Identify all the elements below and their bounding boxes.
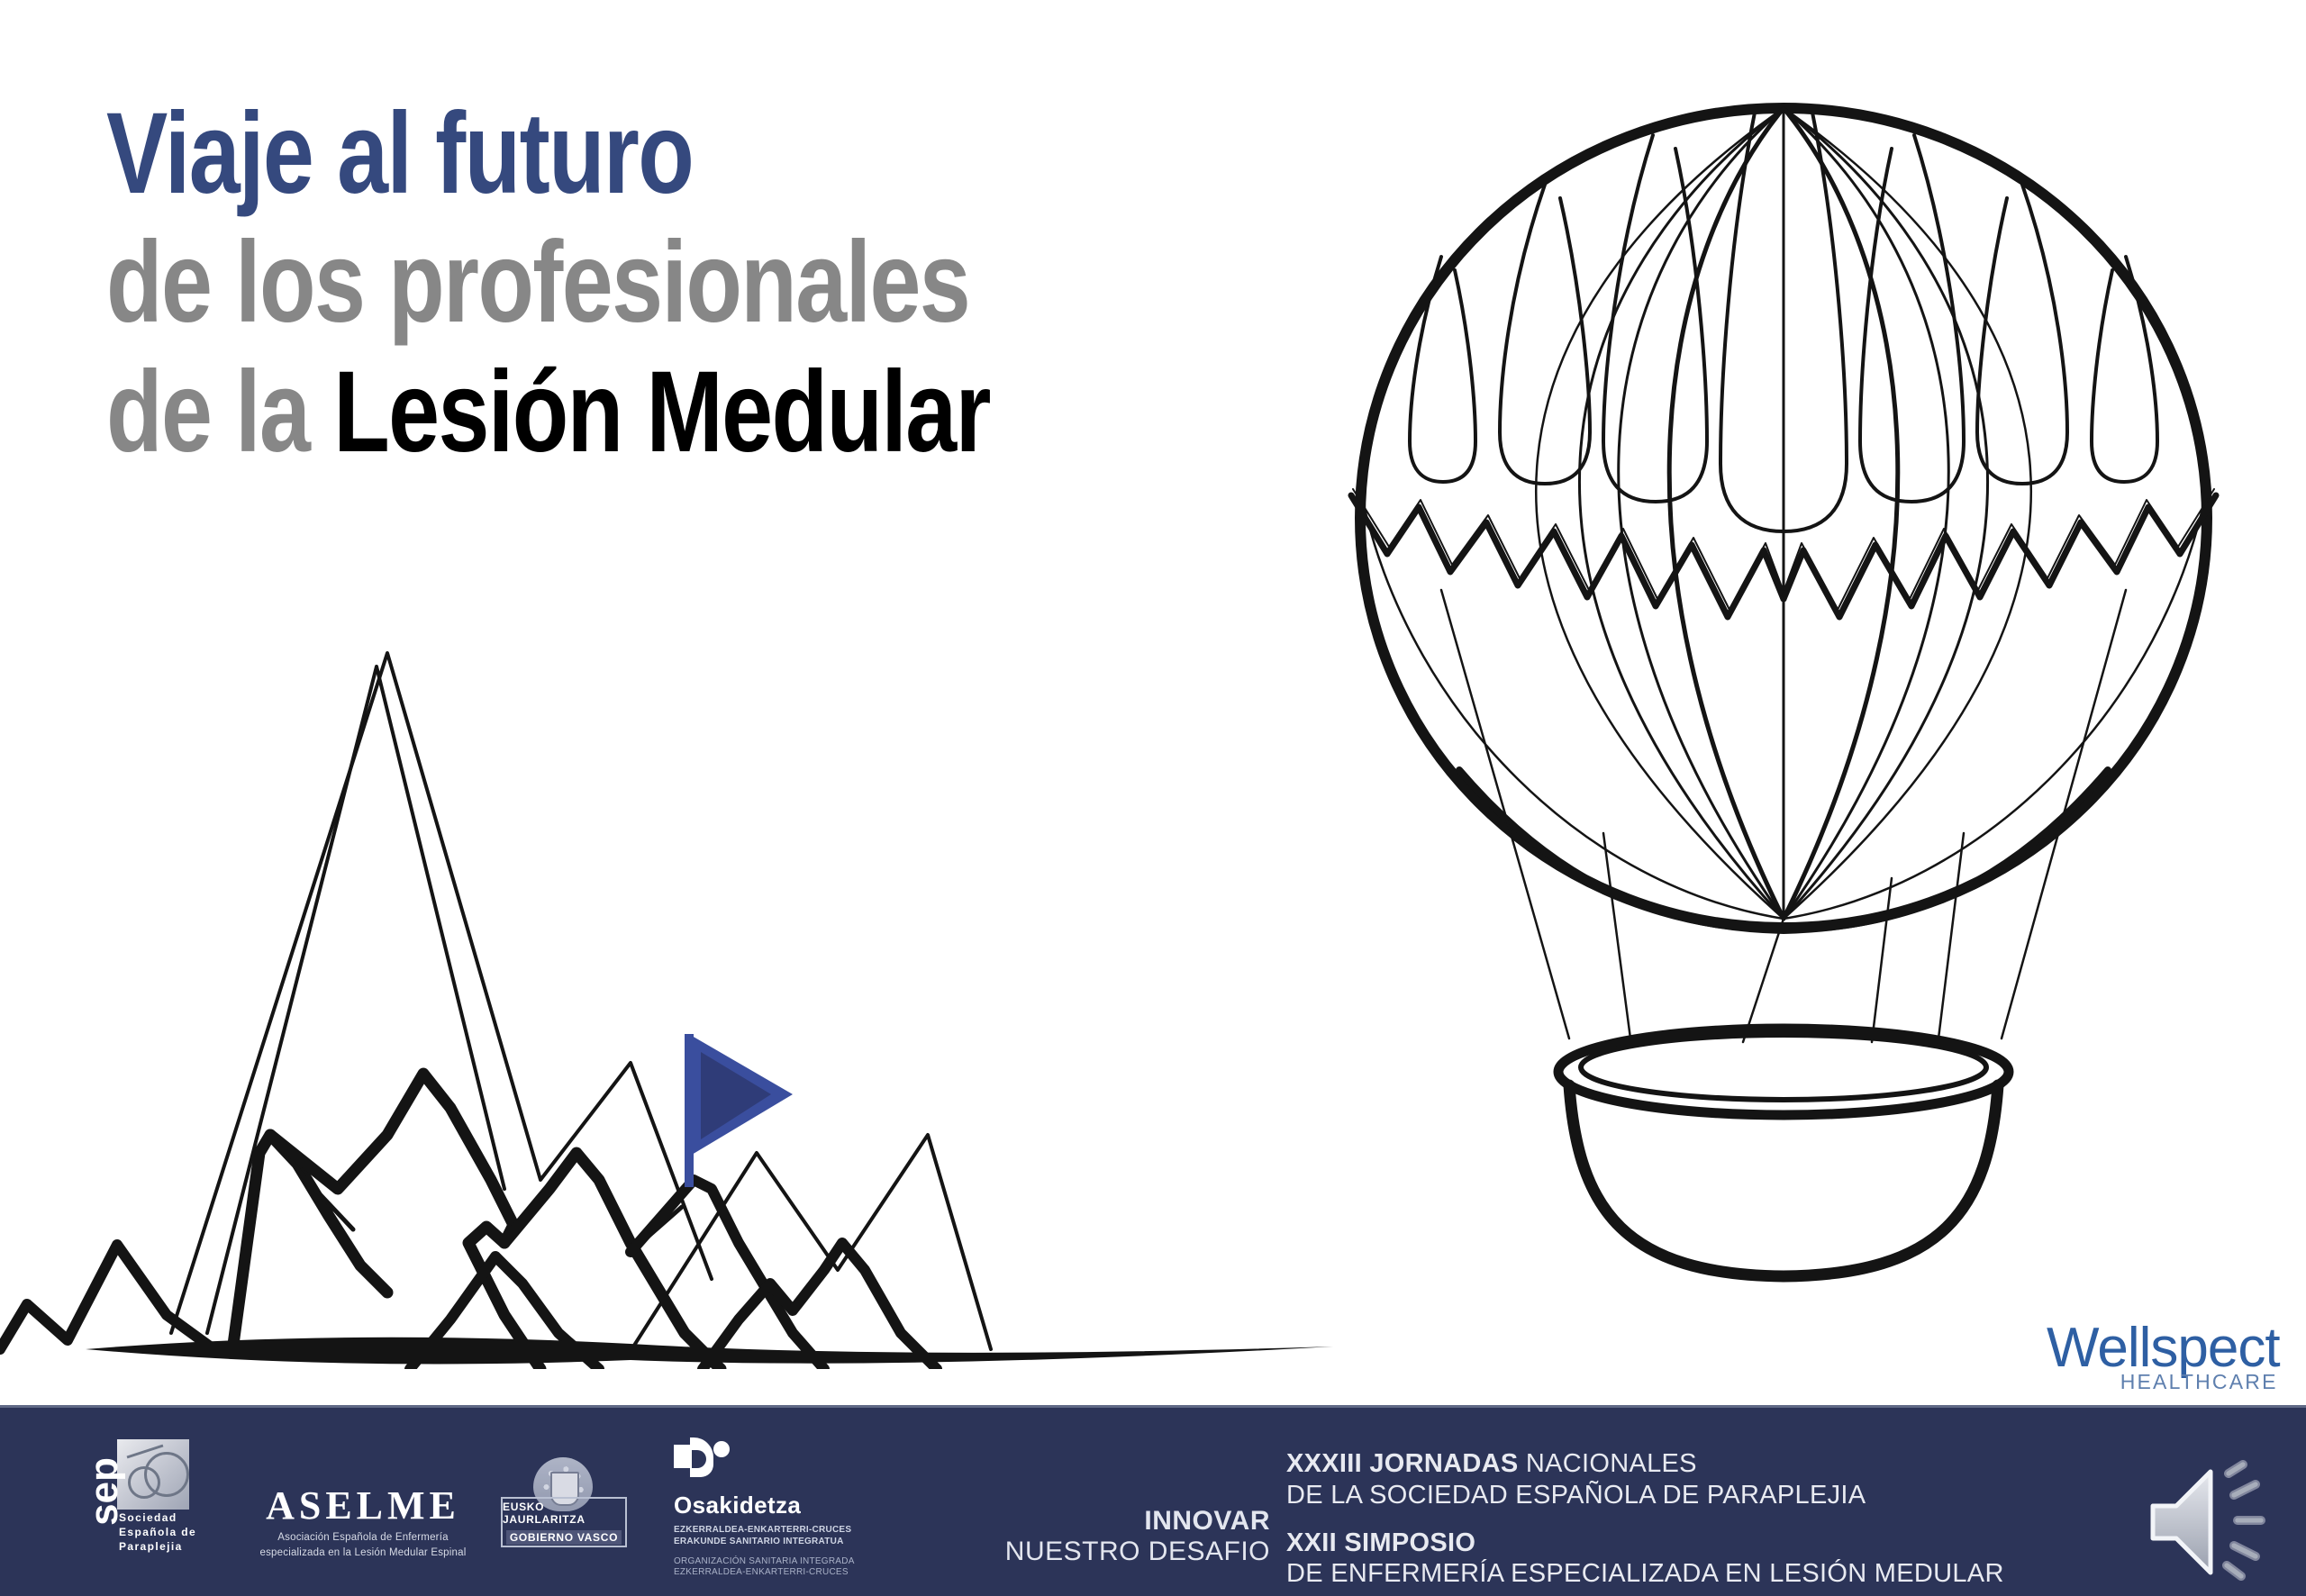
- logo-sep: sep Sociedad Española de Paraplejia: [79, 1439, 189, 1553]
- logo-aselme: ASELME Asociación Española de Enfermería…: [259, 1486, 467, 1562]
- event-block-simposio: XXII SIMPOSIO DE ENFERMERÍA ESPECIALIZAD…: [1286, 1528, 2004, 1591]
- wellspect-wordmark: Wellspect: [2047, 1322, 2280, 1374]
- summit-flag-icon: [685, 1034, 793, 1187]
- wellspect-logo: Wellspect HEALTHCARE: [2047, 1322, 2280, 1394]
- event-2-heading: XXII SIMPOSIO: [1286, 1528, 2004, 1559]
- osakidetza-subtitle-basque: EZKERRALDEA-ENKARTERRI-CRUCES ERAKUNDE S…: [674, 1525, 908, 1548]
- sep-caption: Sociedad Española de Paraplejia: [119, 1511, 196, 1554]
- title-line-1: Viaje al futuro: [106, 97, 990, 210]
- sep-wheelchair-photo: [117, 1439, 189, 1510]
- title-line-3-prefix: de la: [106, 348, 333, 476]
- event-2-subtitle: DE ENFERMERÍA ESPECIALIZADA EN LESIÓN ME…: [1286, 1558, 2004, 1590]
- event-2-number: XXII SIMPOSIO: [1286, 1528, 1475, 1557]
- sep-caption-line-1: Sociedad: [119, 1511, 196, 1526]
- osakidetza-dot-icon: [713, 1441, 730, 1457]
- title-line-3-strong: Lesión Medular: [333, 348, 990, 476]
- event-1-qualifier: NACIONALES: [1519, 1449, 1697, 1478]
- aselme-subtitle-line-2: especializada en la Lesión Medular Espin…: [259, 1546, 467, 1561]
- sep-caption-line-3: Paraplejia: [119, 1540, 196, 1555]
- slogan-line-2: NUESTRO DESAFIO: [1000, 1537, 1270, 1567]
- osakidetza-spanish-line-2: EZKERRALDEA-ENKARTERRI-CRUCES: [674, 1567, 908, 1579]
- page-title: Viaje al futuro de los profesionales de …: [106, 97, 1211, 485]
- event-block-jornadas: XXXIII JORNADAS NACIONALES DE LA SOCIEDA…: [1286, 1448, 2004, 1511]
- event-1-subtitle: DE LA SOCIEDAD ESPAÑOLA DE PARAPLEJIA: [1286, 1480, 2004, 1511]
- osakidetza-basque-line-1: EZKERRALDEA-ENKARTERRI-CRUCES: [674, 1525, 908, 1537]
- aselme-wordmark: ASELME: [259, 1486, 467, 1526]
- logo-eusko-jaurlaritza: EUSKO JAURLARITZA GOBIERNO VASCO: [501, 1457, 627, 1565]
- event-1-number: XXXIII JORNADAS: [1286, 1449, 1519, 1478]
- slide-root: Viaje al futuro de los profesionales de …: [0, 0, 2306, 1596]
- logo-osakidetza: Osakidetza EZKERRALDEA-ENKARTERRI-CRUCES…: [674, 1437, 908, 1579]
- mountain-range-illustration: [0, 558, 1531, 1369]
- eusko-line-2: GOBIERNO VASCO: [506, 1530, 622, 1545]
- osakidetza-basque-line-2: ERAKUNDE SANITARIO INTEGRATUA: [674, 1537, 908, 1548]
- eusko-nameplate: EUSKO JAURLARITZA GOBIERNO VASCO: [501, 1497, 627, 1547]
- banner-slogan: INNOVAR NUESTRO DESAFIO: [1000, 1506, 1270, 1566]
- event-1-heading: XXXIII JORNADAS NACIONALES: [1286, 1448, 2004, 1480]
- event-titles: XXXIII JORNADAS NACIONALES DE LA SOCIEDA…: [1286, 1448, 2004, 1596]
- osakidetza-wordmark: Osakidetza: [674, 1492, 908, 1519]
- aselme-subtitle: Asociación Española de Enfermería especi…: [259, 1530, 467, 1562]
- title-line-2: de los profesionales: [106, 226, 990, 339]
- sep-caption-line-2: Española de: [119, 1526, 196, 1540]
- banner-top-divider: [0, 1405, 2306, 1408]
- osakidetza-spanish-line-1: ORGANIZACIÓN SANITARIA INTEGRADA: [674, 1556, 908, 1568]
- slogan-line-1: INNOVAR: [1000, 1506, 1270, 1537]
- wheelchair-wheel-small-icon: [128, 1466, 160, 1499]
- speaker-volume-icon[interactable]: [2146, 1459, 2281, 1585]
- title-line-3: de la Lesión Medular: [106, 356, 990, 468]
- aselme-subtitle-line-1: Asociación Española de Enfermería: [259, 1530, 467, 1546]
- hot-air-balloon-illustration: [1333, 86, 2270, 1365]
- eusko-line-1: EUSKO JAURLARITZA: [503, 1501, 625, 1526]
- osakidetza-symbol-icon: [674, 1437, 730, 1483]
- ground-line: [86, 1338, 1333, 1365]
- osakidetza-subtitle-spanish: ORGANIZACIÓN SANITARIA INTEGRADA EZKERRA…: [674, 1556, 908, 1580]
